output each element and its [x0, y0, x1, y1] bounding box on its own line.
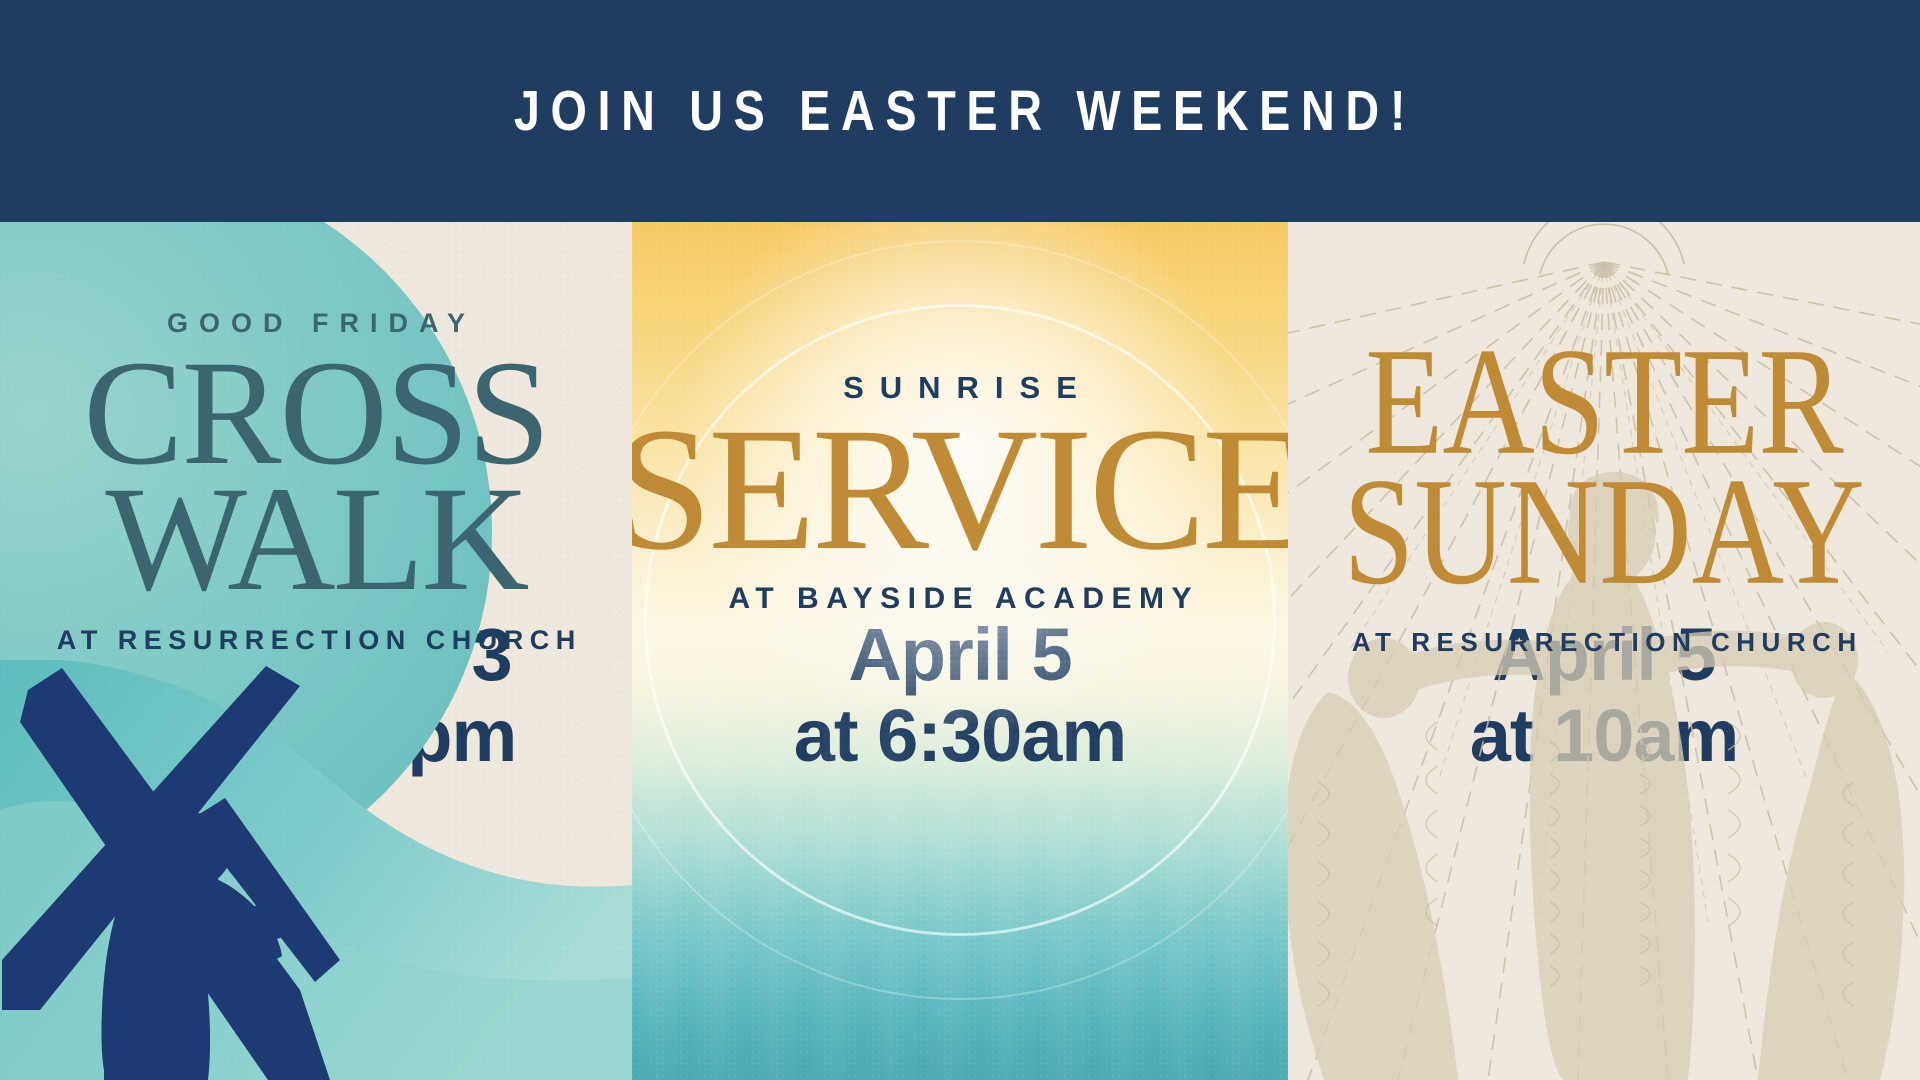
- banner-headline: JOIN US EASTER WEEKEND!: [504, 78, 1417, 144]
- event-panels: GOOD FRIDAY CROSS WALK AT RESURRECTION C…: [0, 222, 1920, 1080]
- panel-good-friday[interactable]: GOOD FRIDAY CROSS WALK AT RESURRECTION C…: [0, 222, 632, 1080]
- header-banner: JOIN US EASTER WEEKEND!: [0, 0, 1920, 222]
- paper-texture-overlay-3: [1288, 222, 1920, 1080]
- grain-overlay: [632, 222, 1288, 1080]
- paper-texture-overlay: [0, 222, 632, 1080]
- panel-easter-sunday[interactable]: EASTER SUNDAY AT RESURRECTION CHURCH Apr…: [1288, 222, 1920, 1080]
- panel-sunrise-service[interactable]: SUNRISE SERVICE AT BAYSIDE ACADEMY April…: [632, 222, 1288, 1080]
- easter-weekend-graphic: JOIN US EASTER WEEKEND!: [0, 0, 1920, 1080]
